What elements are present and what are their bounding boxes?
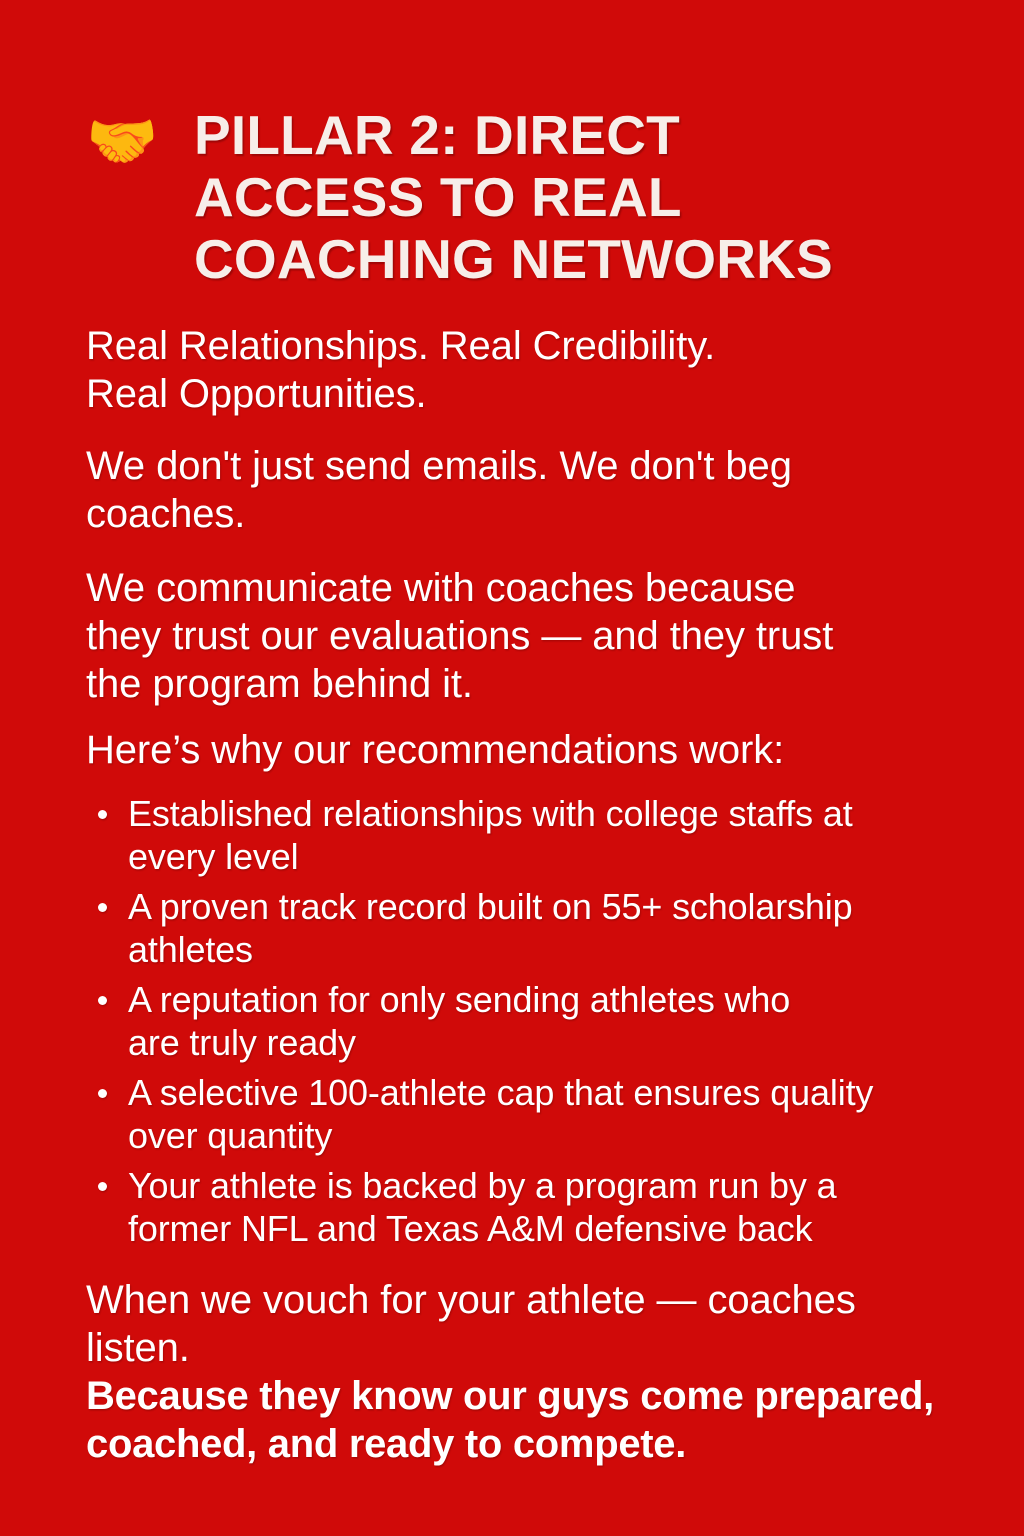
- handshake-icon: 🤝: [86, 104, 194, 174]
- paragraph-one: We don't just send emails. We don't beg …: [86, 442, 966, 538]
- closing-emphasis: Because they know our guys come prepared…: [86, 1372, 966, 1468]
- closing-statement: When we vouch for your athlete — coaches…: [86, 1276, 966, 1372]
- list-item: A proven track record built on 55+ schol…: [86, 885, 966, 971]
- body-content: Real Relationships. Real Credibility. Re…: [86, 322, 966, 1468]
- page-title: PILLAR 2: DIRECT ACCESS TO REAL COACHING…: [194, 104, 946, 290]
- slide-canvas: 🤝 PILLAR 2: DIRECT ACCESS TO REAL COACHI…: [0, 0, 1024, 1536]
- list-item: Your athlete is backed by a program run …: [86, 1164, 966, 1250]
- paragraph-two: We communicate with coaches because they…: [86, 564, 966, 708]
- list-item: A reputation for only sending athletes w…: [86, 978, 966, 1064]
- list-intro-text: Here’s why our recommendations work:: [86, 726, 966, 774]
- list-item: Established relationships with college s…: [86, 792, 966, 878]
- list-item: A selective 100-athlete cap that ensures…: [86, 1071, 966, 1157]
- heading-block: 🤝 PILLAR 2: DIRECT ACCESS TO REAL COACHI…: [86, 104, 946, 290]
- tagline-text: Real Relationships. Real Credibility. Re…: [86, 322, 966, 418]
- reasons-list: Established relationships with college s…: [86, 792, 966, 1250]
